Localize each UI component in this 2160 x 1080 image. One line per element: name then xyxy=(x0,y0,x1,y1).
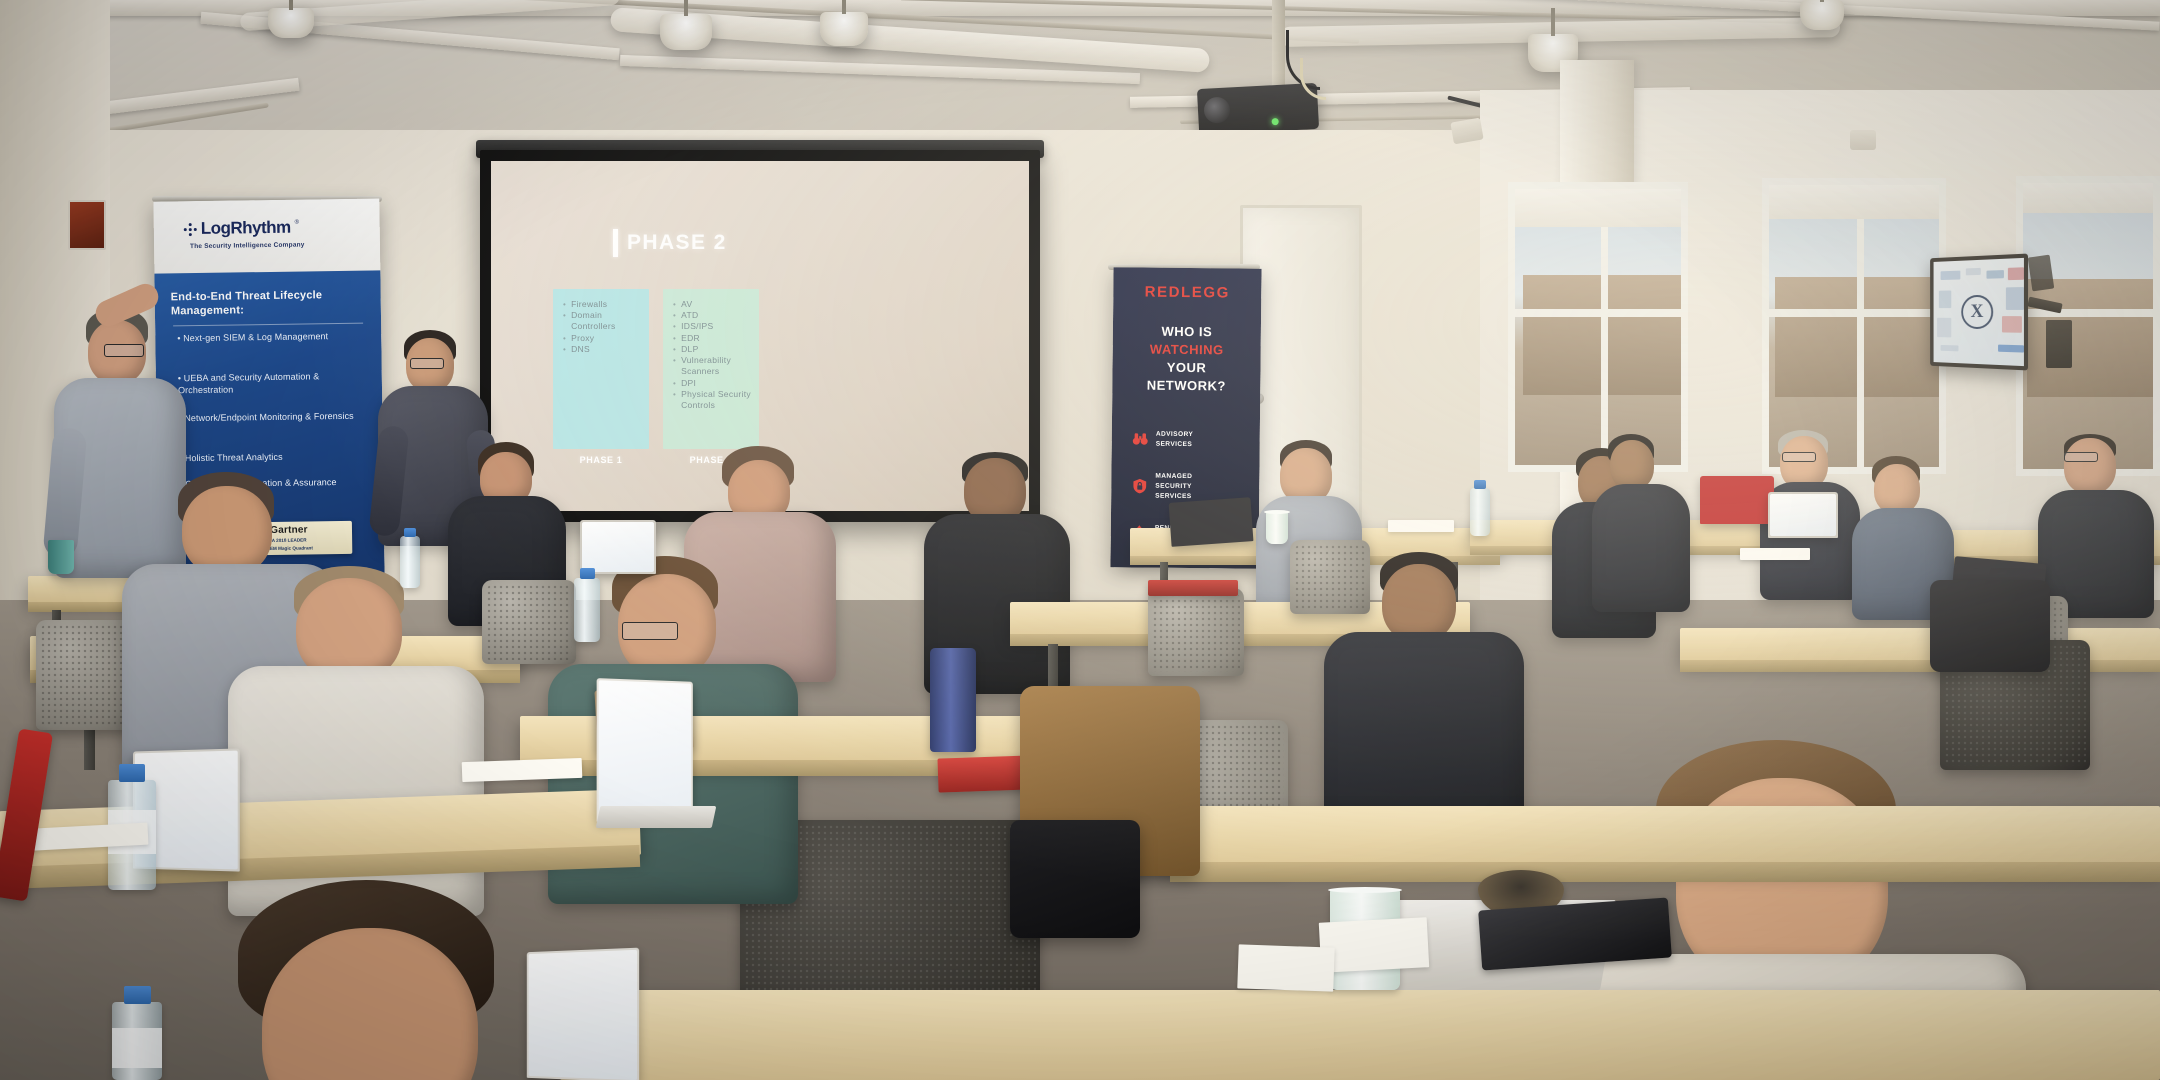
monitor-mount-arm xyxy=(2028,255,2055,292)
lock-shield-icon xyxy=(1131,478,1148,495)
coffee-cup[interactable] xyxy=(1266,512,1288,544)
slide-bullet: •DLP xyxy=(673,344,751,355)
slide-column-label-phase-1: PHASE 1 xyxy=(553,455,649,465)
redlegg-logo: REDLEGG xyxy=(1113,283,1261,302)
glasses xyxy=(104,344,144,357)
registered-mark: ® xyxy=(295,220,300,226)
laptop-screen xyxy=(529,950,638,1080)
window-mullion xyxy=(1857,185,1864,467)
laptop[interactable] xyxy=(1768,492,1838,538)
glasses xyxy=(410,358,444,369)
logrhythm-logo-text: LogRhythm xyxy=(201,218,291,239)
redlegg-service-advisory: ADVISORY SERVICES xyxy=(1132,429,1194,449)
window-shade xyxy=(1515,189,1681,227)
cup-rim xyxy=(1264,510,1290,514)
window-mullion xyxy=(1601,189,1608,465)
bottle-cap[interactable] xyxy=(580,568,595,579)
paper[interactable] xyxy=(462,758,583,782)
laptop[interactable] xyxy=(580,520,656,574)
slide-bullet: •Domain Controllers xyxy=(563,310,641,332)
window-shade xyxy=(2023,183,2153,213)
logrhythm-heading: End-to-End Threat Lifecycle Management: xyxy=(171,289,369,319)
chair[interactable] xyxy=(482,580,576,664)
laptop[interactable] xyxy=(1169,497,1254,547)
slide-bullet: •ATD xyxy=(673,310,751,321)
cup-rim xyxy=(1328,887,1402,893)
pendant-light xyxy=(268,8,314,38)
monitor-logo-x: X xyxy=(1961,295,1993,329)
classroom-photo: X PHASE 2 •Firewalls •Domain Controllers… xyxy=(0,0,2160,1080)
slide-bullet: •Firewalls xyxy=(563,299,641,310)
projector xyxy=(1197,83,1319,135)
slide-column-phase-1: •Firewalls •Domain Controllers •Proxy •D… xyxy=(553,289,649,449)
redlegg-headline-line2: WATCHING xyxy=(1113,341,1261,358)
slide-bullet: •IDS/IPS xyxy=(673,321,751,332)
backpack[interactable] xyxy=(1010,820,1140,938)
glasses xyxy=(622,622,678,640)
slide-column-phase-2: •AV •ATD •IDS/IPS •EDR •DLP •Vulnerabili… xyxy=(663,289,759,449)
table xyxy=(560,990,2160,1080)
ceiling-speaker xyxy=(1850,130,1876,150)
slide-title: PHASE 2 xyxy=(627,231,727,255)
logrhythm-bullet: • UEBA and Security Automation & Orchest… xyxy=(178,371,374,397)
laptop-screen xyxy=(582,522,654,572)
redlegg-headline-line3: YOUR xyxy=(1112,359,1260,376)
pendant-light xyxy=(660,14,712,50)
bottle-cap[interactable] xyxy=(124,986,151,1004)
redlegg-headline-line4: NETWORK? xyxy=(1112,377,1260,394)
projector-mount xyxy=(1272,0,1285,96)
fire-alarm xyxy=(68,200,106,250)
coffee-cup[interactable] xyxy=(48,540,74,574)
window xyxy=(1762,178,1946,474)
monitor-mount-arm xyxy=(2046,320,2072,368)
slide-bullet: •Physical Security Controls xyxy=(673,389,751,411)
table-edge xyxy=(1170,862,2160,882)
laptop-screen xyxy=(1770,494,1836,536)
projector-status-led xyxy=(1272,118,1279,125)
redlegg-headline-line1: WHO IS xyxy=(1113,323,1261,340)
binoculars-icon xyxy=(1132,431,1149,448)
redlegg-service-label: ADVISORY SERVICES xyxy=(1156,430,1194,450)
logrhythm-dots-icon xyxy=(184,222,197,235)
laptop-screen xyxy=(599,680,691,820)
thermos[interactable] xyxy=(930,648,976,752)
laptop[interactable] xyxy=(1700,476,1774,524)
red-folder[interactable] xyxy=(1148,580,1238,596)
chair[interactable] xyxy=(1290,540,1370,614)
bottle-label xyxy=(112,1028,162,1068)
napkins[interactable] xyxy=(1319,917,1429,973)
paper[interactable] xyxy=(1740,548,1810,560)
water-bottle[interactable] xyxy=(112,1002,162,1080)
window-mullion xyxy=(1769,309,1939,317)
water-bottle[interactable] xyxy=(400,536,420,588)
paper[interactable] xyxy=(1388,520,1454,532)
slide-bullet: •DNS xyxy=(563,344,641,355)
torso xyxy=(1592,484,1690,612)
slide-bullet: •AV xyxy=(673,299,751,310)
bag[interactable] xyxy=(1930,580,2050,672)
window-shade xyxy=(1769,185,1939,219)
slide-bullet: •Vulnerability Scanners xyxy=(673,355,751,377)
bottle-cap[interactable] xyxy=(404,528,416,537)
window-mullion xyxy=(2023,309,2153,317)
table xyxy=(1170,806,2160,870)
slide-title-accent-bar xyxy=(613,229,618,257)
slide-bullet: •Proxy xyxy=(563,333,641,344)
redlegg-service-label: MANAGED SECURITY SERVICES xyxy=(1155,472,1192,502)
redlegg-service-managed: MANAGED SECURITY SERVICES xyxy=(1131,471,1192,501)
pendant-light xyxy=(1800,0,1844,30)
slide-bullet: •DPI xyxy=(673,378,751,389)
laptop[interactable] xyxy=(527,948,639,1080)
wall-monitor-screen: X xyxy=(1934,258,2024,366)
water-bottle[interactable] xyxy=(1470,488,1490,536)
glasses xyxy=(2064,452,2098,462)
window-mullion xyxy=(1515,309,1681,317)
laptop-base[interactable] xyxy=(596,806,717,828)
wall-monitor[interactable]: X xyxy=(1930,254,2028,371)
chair[interactable] xyxy=(1148,588,1244,676)
water-bottle[interactable] xyxy=(574,578,600,642)
slide-bullet: •EDR xyxy=(673,333,751,344)
window xyxy=(2016,176,2160,476)
projector-lens xyxy=(1203,96,1230,123)
glasses xyxy=(1782,452,1816,462)
bottle-cap[interactable] xyxy=(1474,480,1486,489)
laptop[interactable] xyxy=(597,678,693,822)
pendant-light xyxy=(820,12,868,46)
napkins[interactable] xyxy=(1237,944,1334,991)
window xyxy=(1508,182,1688,472)
bottle-cap[interactable] xyxy=(119,764,145,782)
